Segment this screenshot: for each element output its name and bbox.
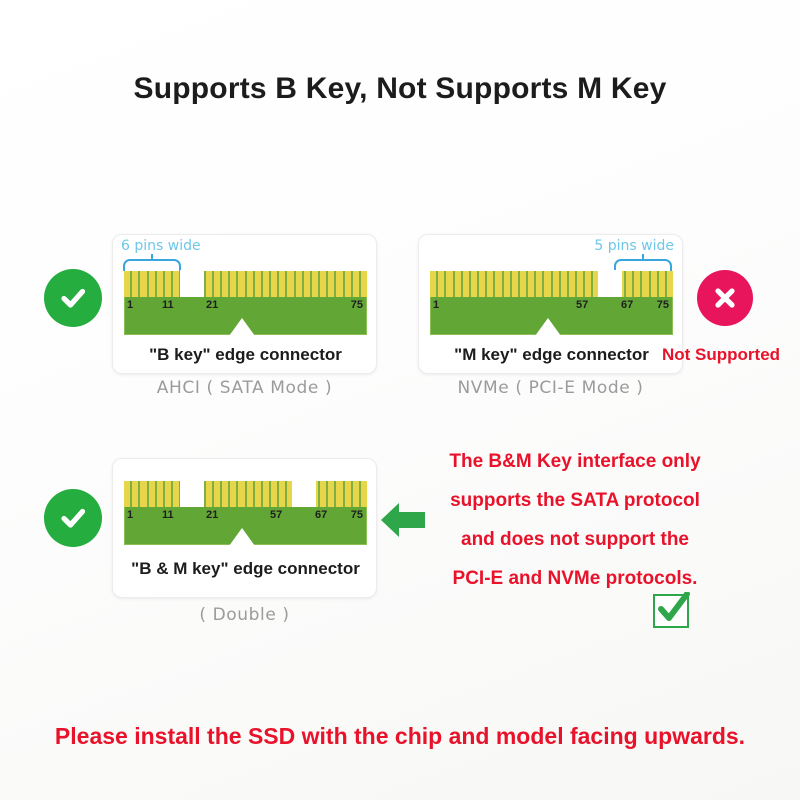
- pin-number: 75: [657, 299, 669, 311]
- red-note-line: PCI-E and NVMe protocols.: [400, 559, 750, 598]
- pin-bank-full: [124, 481, 367, 507]
- check-circle-icon: [56, 501, 90, 535]
- red-note-line: and does not support the: [400, 520, 750, 559]
- card-caption-b-key: AHCI ( SATA Mode ): [112, 378, 377, 398]
- key-gap-m: [292, 480, 316, 507]
- pin-number: 57: [270, 509, 282, 521]
- pins-wide-label-m-key: 5 pins wide: [594, 238, 674, 254]
- pin-number: 21: [206, 299, 218, 311]
- status-icon-bm-key: [44, 489, 102, 547]
- brace-b-key: [123, 259, 181, 271]
- check-icon: [655, 592, 691, 624]
- card-m-key: 5 pins wide 1 57 67 75 "M key" edge c: [418, 234, 683, 374]
- edge-connector-label-b-key: "B key" edge connector: [113, 345, 378, 365]
- card-caption-m-key: NVMe ( PCI-E Mode ): [418, 378, 683, 398]
- pin-number: 11: [162, 299, 174, 311]
- pin-number: 1: [433, 299, 439, 311]
- pcb-b-key: 1 11 21 75: [124, 271, 367, 335]
- red-note-line: The B&M Key interface only: [400, 442, 750, 481]
- pin-number: 75: [351, 509, 363, 521]
- edge-connector-label-bm-key: "B & M key" edge connector: [113, 559, 378, 579]
- key-gap-b: [180, 480, 204, 507]
- card-b-key: 6 pins wide 1 11 21 75 "B key" edge c: [112, 234, 377, 374]
- infographic-root: Supports B Key, Not Supports M Key 6 pin…: [0, 0, 800, 800]
- pin-number: 1: [127, 509, 133, 521]
- check-circle-icon: [56, 281, 90, 315]
- key-gap-m: [598, 270, 622, 297]
- brace-m-key: [614, 259, 672, 271]
- pin-bank-full: [430, 271, 673, 297]
- pin-number: 57: [576, 299, 588, 311]
- bottom-warning-text: Please install the SSD with the chip and…: [0, 723, 800, 750]
- key-gap-b: [180, 270, 204, 297]
- red-note-line: supports the SATA protocol: [400, 481, 750, 520]
- red-note-block: The B&M Key interface only supports the …: [400, 442, 750, 598]
- page-title: Supports B Key, Not Supports M Key: [0, 72, 800, 106]
- pcb-bm-key: 1 11 21 57 67 75: [124, 481, 367, 545]
- pin-number: 1: [127, 299, 133, 311]
- status-icon-m-key: [697, 270, 753, 326]
- pin-bank-full: [124, 271, 367, 297]
- pin-number: 67: [315, 509, 327, 521]
- pin-number: 21: [206, 509, 218, 521]
- confirm-checkbox: [653, 594, 689, 628]
- x-circle-icon: [710, 283, 740, 313]
- card-caption-bm-key: ( Double ): [112, 605, 377, 625]
- status-icon-b-key: [44, 269, 102, 327]
- pin-number: 11: [162, 509, 174, 521]
- pin-number: 67: [621, 299, 633, 311]
- card-bm-key: 1 11 21 57 67 75 "B & M key" edge connec…: [112, 458, 377, 598]
- edge-connector-label-m-key: "M key" edge connector: [419, 345, 684, 365]
- not-supported-badge: Not Supported: [662, 345, 780, 365]
- pin-number: 75: [351, 299, 363, 311]
- pcb-m-key: 1 57 67 75: [430, 271, 673, 335]
- pins-wide-label-b-key: 6 pins wide: [121, 238, 201, 254]
